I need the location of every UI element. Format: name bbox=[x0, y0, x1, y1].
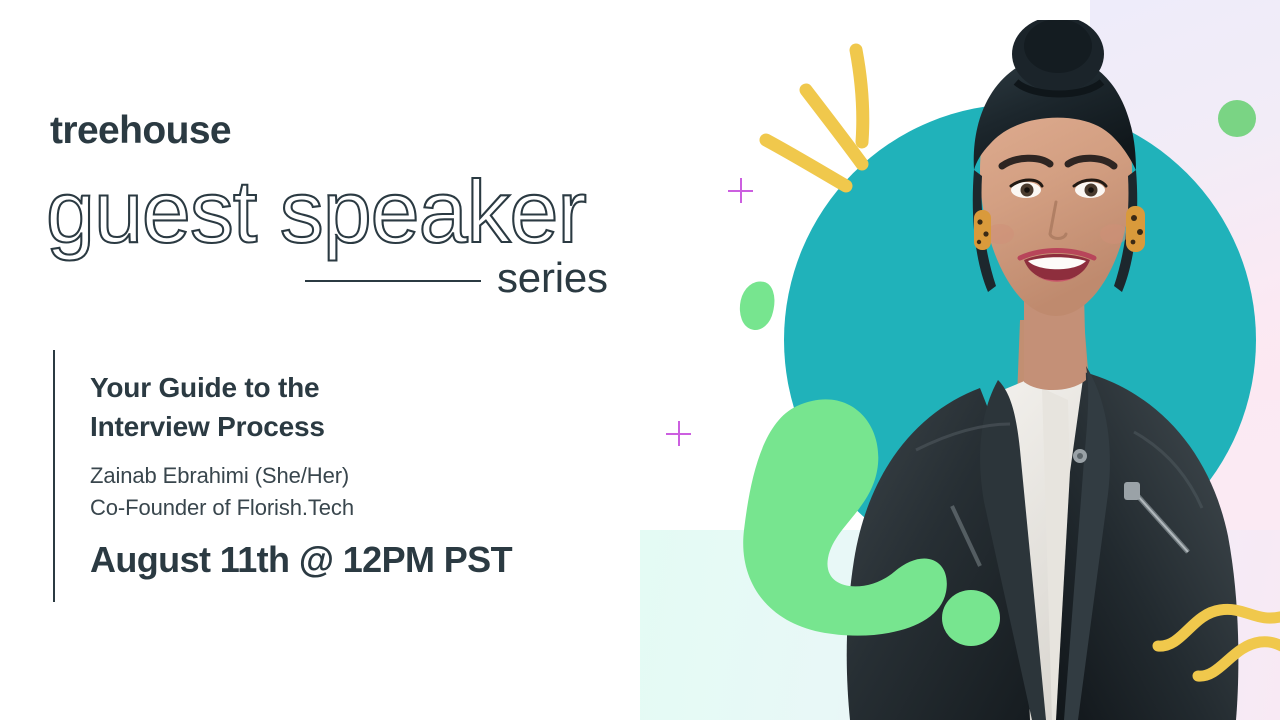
series-label: series bbox=[497, 257, 608, 299]
event-datetime: August 11th @ 12PM PST bbox=[90, 542, 650, 578]
green-blob-small bbox=[735, 278, 778, 333]
yellow-ray-strokes-icon bbox=[740, 38, 900, 203]
speaker-name: Zainab Ebrahimi (She/Her) bbox=[90, 460, 650, 491]
plus-mark-icon bbox=[666, 421, 691, 446]
poster-canvas: treehouse guest speaker series Your Guid… bbox=[0, 0, 1280, 720]
series-divider-rule bbox=[305, 280, 481, 282]
green-blob-large bbox=[742, 392, 952, 640]
svg-text:guest speaker: guest speaker bbox=[46, 162, 586, 261]
yellow-wave-strokes-icon bbox=[1150, 580, 1280, 695]
brand-name: treehouse bbox=[50, 111, 231, 150]
plus-mark-icon bbox=[728, 178, 753, 203]
speaker-role: Co-Founder of Florish.Tech bbox=[90, 492, 650, 523]
event-details: Your Guide to the Interview Process Zain… bbox=[90, 368, 650, 578]
talk-title: Your Guide to the Interview Process bbox=[90, 368, 650, 446]
accent-vertical-rule bbox=[53, 350, 55, 602]
green-dot-bottom-icon bbox=[942, 590, 1000, 646]
